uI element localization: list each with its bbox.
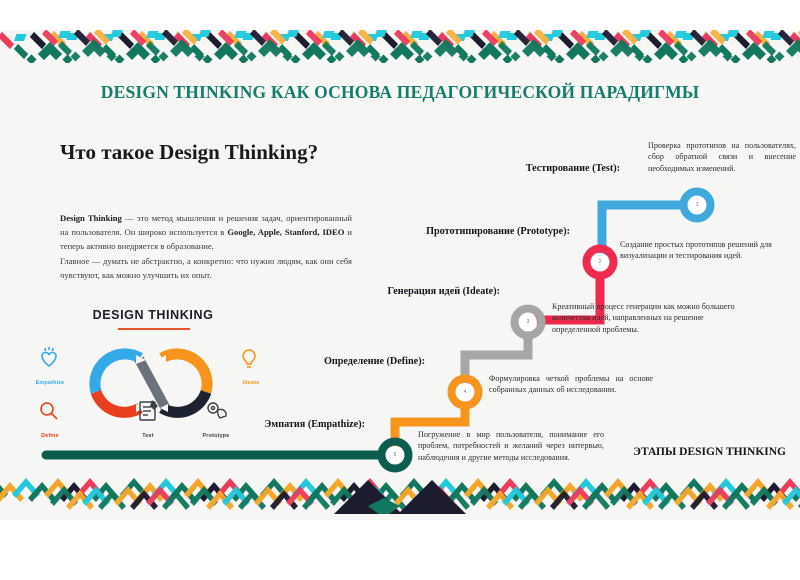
top-ornament-band [0,30,800,70]
slide-canvas: DESIGN THINKING КАК ОСНОВА ПЕДАГОГИЧЕСКО… [0,30,800,520]
checklist-icon [140,400,158,420]
stage-desc-test: Проверка прототипов на пользователях, сб… [648,140,796,174]
gear-hand-icon [208,403,226,418]
stage-label-define: Определение (Define): [230,356,425,367]
stage-label-test: Тестирование (Test): [420,163,620,174]
stage-desc-ideate: Креативный процесс генерации как можно б… [552,301,740,335]
logo-title: DESIGN THINKING [18,308,288,322]
stage-label-empathize: Эмпатия (Empathize): [180,419,365,430]
intro-lead: Design Thinking [60,213,122,223]
stages-caption: ЭТАПЫ DESIGN THINKING [633,446,786,458]
stage-desc-empathize: Погружение в мир пользователя, понимание… [418,429,604,463]
logo-label-test: Test [118,433,178,439]
heart-icon [42,347,56,366]
stage-node-5-number: 5 [385,452,405,458]
logo-label-prototype: Prototype [186,433,246,439]
stage-node-3-number: 3 [518,319,538,325]
intro-paragraphs: Design Thinking — это метод мышления и р… [60,212,352,283]
intro-paragraph-1: Design Thinking — это метод мышления и р… [60,212,352,254]
logo-label-define: Define [20,433,80,439]
stage-node-1-number: 1 [687,202,707,208]
stage-desc-prototype: Создание простых прототипов решений для … [620,239,786,262]
stage-label-prototype: Прототипирование (Prototype): [320,226,570,237]
stage-label-ideate: Генерация идей (Ideate): [300,286,500,297]
stage-desc-define: Формулировка четкой проблемы на основе с… [489,373,653,396]
stage-node-2-number: 2 [590,259,610,265]
section-subtitle: Что такое Design Thinking? [60,140,318,165]
search-icon [41,403,57,419]
stage-node-4-number: 4 [455,389,475,395]
logo-label-ideate: Ideate [221,380,281,386]
bottom-ornament-band [0,462,800,520]
logo-label-empathize: Empathize [20,380,80,386]
page-title: DESIGN THINKING КАК ОСНОВА ПЕДАГОГИЧЕСКО… [0,82,800,103]
design-thinking-logo: DESIGN THINKING [18,308,288,433]
intro-paragraph-2: Главное — думать не абстрактно, а конкре… [60,255,352,283]
